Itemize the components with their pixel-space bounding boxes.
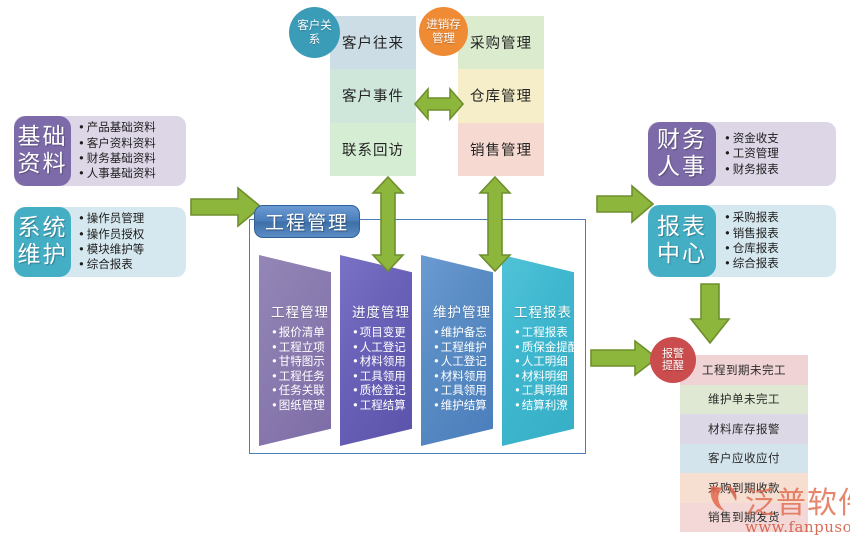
engineering-panel-progress-list: 项目变更 人工登记 材料领用 工具领用 质检登记 工程结算 [352,325,412,413]
list-item[interactable]: 工资管理 [724,146,779,161]
list-item[interactable]: 材料明细 [514,369,574,384]
alert-item-5[interactable]: 销售到期发货 [680,503,808,533]
right-block-report-center-list: 采购报表 销售报表 仓库报表 综合报表 [724,210,779,272]
list-item[interactable]: 仓库报表 [724,241,779,256]
top-panel-crm-cell-2-label: 联系回访 [342,139,404,160]
left-block-system-maintenance-tag-line1: 系统 [18,215,68,242]
engineering-panel-project-header: 工程管理 [271,301,331,321]
list-item[interactable]: 人工登记 [352,340,412,355]
list-item[interactable]: 图纸管理 [271,398,331,413]
alert-item-4[interactable]: 采购到期收款 [680,473,808,503]
alerts-badge-line2: 提醒 [662,360,684,373]
alerts-badge[interactable]: 报警 提醒 [650,337,696,383]
list-item[interactable]: 综合报表 [78,257,144,272]
arrow-engineering-to-right-blocks [596,184,654,224]
top-panel-inventory-cell-0[interactable]: 采购管理 [458,16,544,69]
engineering-panel-maintenance-header: 维护管理 [433,301,493,321]
left-block-system-maintenance-tag-line2: 维护 [18,242,68,269]
list-item[interactable]: 销售报表 [724,226,779,241]
list-item[interactable]: 人工明细 [514,354,574,369]
top-panel-inventory-cell-1[interactable]: 仓库管理 [458,69,544,122]
list-item[interactable]: 综合报表 [724,256,779,271]
list-item[interactable]: 维护备忘 [433,325,493,340]
list-item[interactable]: 结算利潦 [514,398,574,413]
left-block-system-maintenance-list: 操作员管理 操作员授权 模块维护等 综合报表 [78,211,144,273]
alerts-panel: 工程到期未完工 维护单未完工 材料库存报警 客户应收应付 采购到期收款 销售到期… [680,355,808,532]
list-item[interactable]: 工具领用 [433,383,493,398]
arrow-crm-inventory-bidirectional [414,83,464,125]
list-item[interactable]: 操作员管理 [78,211,144,226]
list-item[interactable]: 财务报表 [724,162,779,177]
alert-item-0-label: 工程到期未完工 [702,362,786,378]
right-block-report-center-tag-line1: 报表 [657,214,707,241]
engineering-panel-project[interactable]: 工程管理 报价清单 工程立项 甘特图示 工程任务 任务关联 图纸管理 [259,255,331,446]
top-panel-inventory-cell-2-label: 销售管理 [470,139,532,160]
alert-item-3-label: 客户应收应付 [708,450,780,466]
diagram-canvas: 客户往来 客户事件 联系回访 客户关 系 采购管理 仓库管理 销售管理 进销存 … [0,0,850,532]
left-block-basic-data-tag[interactable]: 基础 资料 [14,116,71,186]
list-item[interactable]: 模块维护等 [78,242,144,257]
list-item[interactable]: 工具领用 [352,369,412,384]
right-block-finance-hr-list: 资金收支 工资管理 财务报表 [724,131,779,177]
alert-item-2[interactable]: 材料库存报警 [680,414,808,444]
engineering-title-label: 工程管理 [265,208,349,235]
alert-item-1[interactable]: 维护单未完工 [680,385,808,415]
list-item[interactable]: 工程立项 [271,340,331,355]
top-panel-inventory-cell-0-label: 采购管理 [470,32,532,53]
left-block-basic-data-tag-line2: 资料 [18,151,68,178]
crm-badge[interactable]: 客户关 系 [289,7,340,58]
top-panel-inventory-cell-2[interactable]: 销售管理 [458,123,544,176]
right-block-finance-hr-tag-line1: 财务 [657,127,707,154]
top-panel-crm-cell-0[interactable]: 客户往来 [330,16,416,69]
top-panel-crm: 客户往来 客户事件 联系回访 [330,16,416,176]
engineering-panel-reports-list: 工程报表 质保金提醒 人工明细 材料明细 工具明细 结算利潦 [514,325,574,413]
engineering-title-badge[interactable]: 工程管理 [254,205,360,238]
alert-item-1-label: 维护单未完工 [708,391,780,407]
list-item[interactable]: 工程维护 [433,340,493,355]
arrow-left-to-engineering [190,186,262,228]
list-item[interactable]: 工程任务 [271,369,331,384]
engineering-panel-maintenance[interactable]: 维护管理 维护备忘 工程维护 人工登记 材料领用 工具领用 维护结算 [421,255,493,446]
list-item[interactable]: 报价清单 [271,325,331,340]
list-item[interactable]: 甘特图示 [271,354,331,369]
list-item[interactable]: 工具明细 [514,383,574,398]
engineering-panel-progress[interactable]: 进度管理 项目变更 人工登记 材料领用 工具领用 质检登记 工程结算 [340,255,412,446]
alert-item-3[interactable]: 客户应收应付 [680,444,808,474]
arrow-engineering-inventory-bidirectional [478,176,512,272]
list-item[interactable]: 人工登记 [433,354,493,369]
engineering-panel-maintenance-list: 维护备忘 工程维护 人工登记 材料领用 工具领用 维护结算 [433,325,493,413]
engineering-panel-project-list: 报价清单 工程立项 甘特图示 工程任务 任务关联 图纸管理 [271,325,331,413]
list-item[interactable]: 工程结算 [352,398,412,413]
top-panel-crm-cell-1-label: 客户事件 [342,85,404,106]
arrow-engineering-to-alerts [590,339,658,377]
list-item[interactable]: 财务基础资料 [78,151,156,166]
list-item[interactable]: 材料领用 [352,354,412,369]
right-block-report-center-tag-line2: 中心 [657,241,707,268]
list-item[interactable]: 客户资料资料 [78,136,156,151]
alert-item-0[interactable]: 工程到期未完工 [680,355,808,385]
engineering-panel-reports[interactable]: 工程报表 工程报表 质保金提醒 人工明细 材料明细 工具明细 结算利潦 [502,255,574,446]
list-item[interactable]: 任务关联 [271,383,331,398]
right-block-finance-hr-tag-line2: 人事 [657,154,707,181]
right-block-report-center-tag[interactable]: 报表 中心 [648,205,716,277]
list-item[interactable]: 质检登记 [352,383,412,398]
top-panel-inventory-cell-1-label: 仓库管理 [470,85,532,106]
inventory-badge[interactable]: 进销存 管理 [419,7,468,56]
right-block-finance-hr-tag[interactable]: 财务 人事 [648,122,716,186]
engineering-panel-reports-header: 工程报表 [514,301,574,321]
top-panel-crm-cell-2[interactable]: 联系回访 [330,123,416,176]
left-block-basic-data-list: 产品基础资料 客户资料资料 财务基础资料 人事基础资料 [78,120,156,182]
alert-item-2-label: 材料库存报警 [708,421,780,437]
list-item[interactable]: 质保金提醒 [514,340,574,355]
list-item[interactable]: 维护结算 [433,398,493,413]
inventory-badge-line1: 进销存 [426,18,461,32]
left-block-basic-data-tag-line1: 基础 [18,124,68,151]
top-panel-crm-cell-1[interactable]: 客户事件 [330,69,416,122]
alert-item-4-label: 采购到期收款 [708,480,780,496]
left-block-system-maintenance-tag[interactable]: 系统 维护 [14,207,71,277]
top-panel-crm-cell-0-label: 客户往来 [342,32,404,53]
list-item[interactable]: 工程报表 [514,325,574,340]
list-item[interactable]: 材料领用 [433,369,493,384]
list-item[interactable]: 人事基础资料 [78,166,156,181]
crm-badge-line1: 客户关 [297,19,332,33]
inventory-badge-line2: 管理 [432,32,455,46]
arrow-report-center-to-alerts [688,283,732,345]
engineering-panel-progress-header: 进度管理 [352,301,412,321]
list-item[interactable]: 采购报表 [724,210,779,225]
crm-badge-line2: 系 [309,33,321,47]
alert-item-5-label: 销售到期发货 [708,509,780,525]
top-panel-inventory: 采购管理 仓库管理 销售管理 [458,16,544,176]
list-item[interactable]: 产品基础资料 [78,120,156,135]
list-item[interactable]: 操作员授权 [78,227,144,242]
arrow-engineering-crm-bidirectional [371,176,405,272]
list-item[interactable]: 项目变更 [352,325,412,340]
list-item[interactable]: 资金收支 [724,131,779,146]
